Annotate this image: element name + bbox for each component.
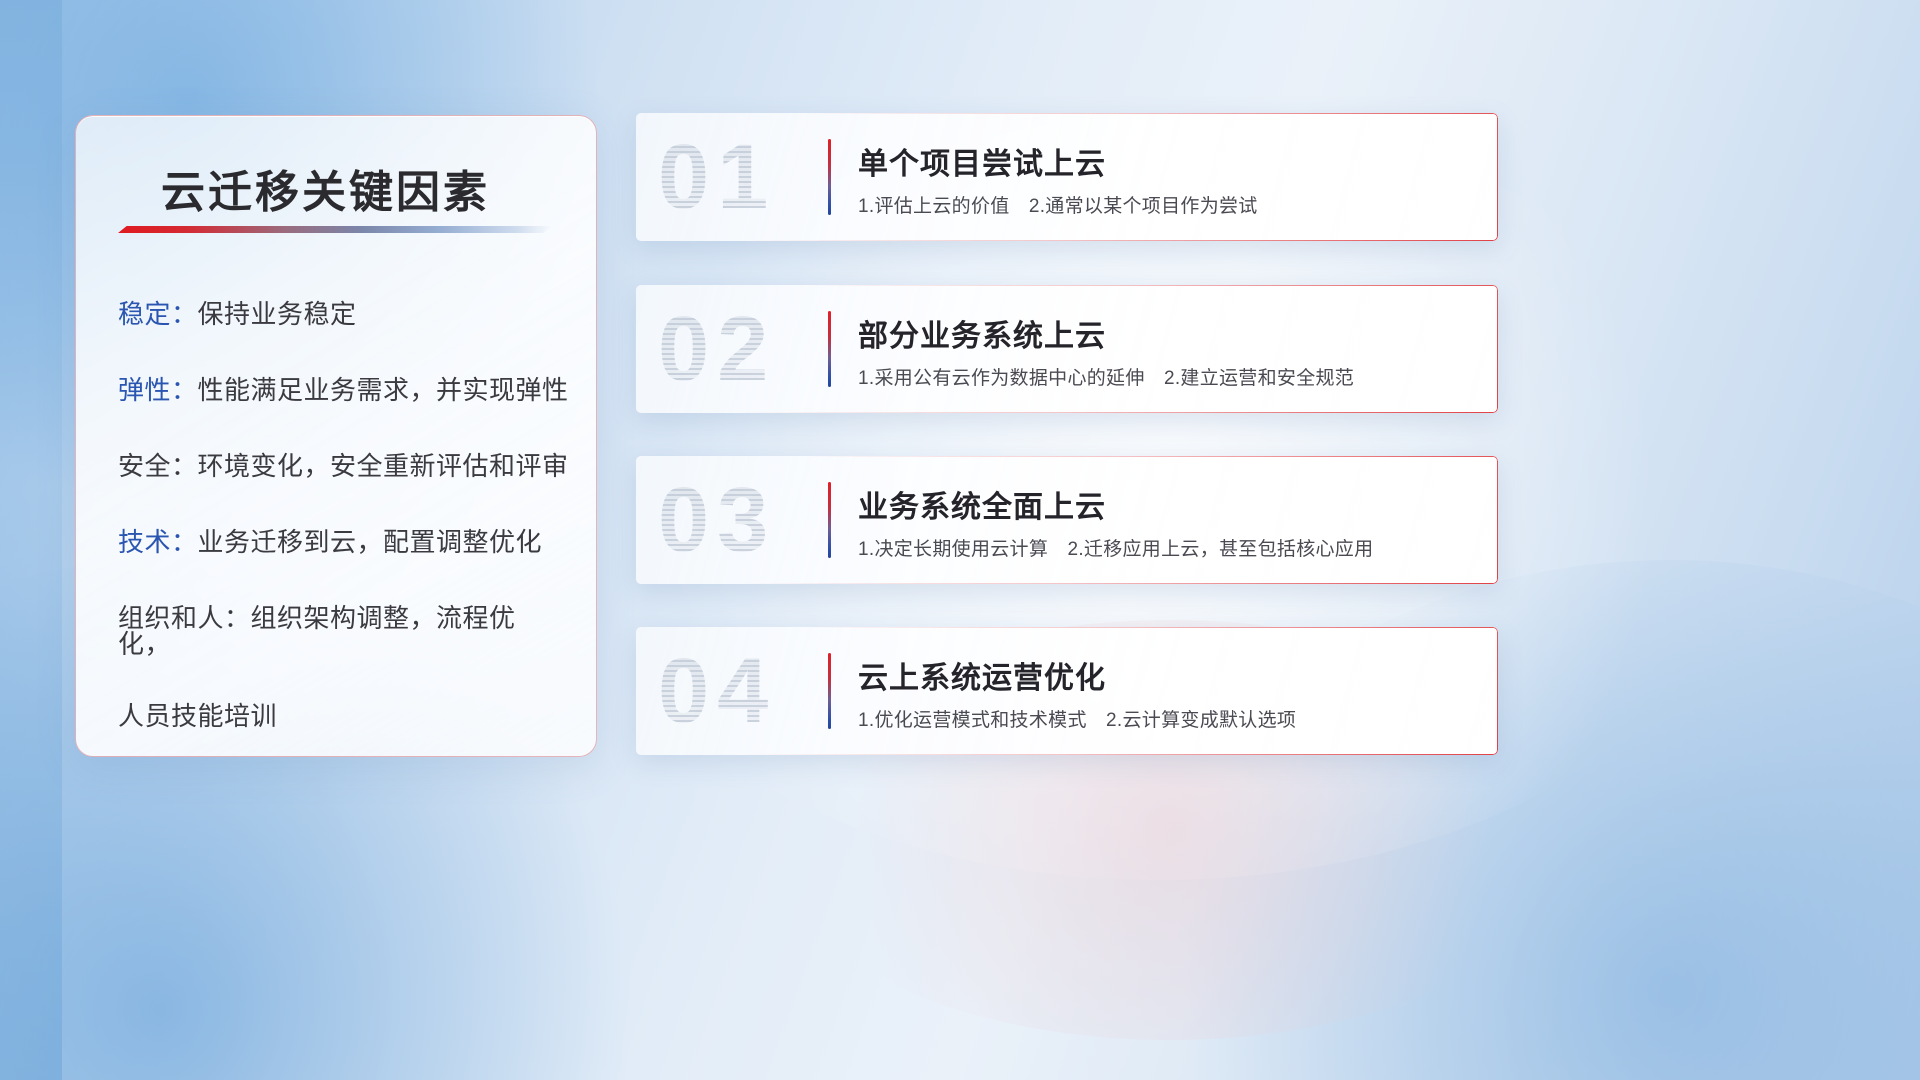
key-factors-card: 云迁移关键因素 稳定：保持业务稳定 弹性：性能满足业务需求，并实现弹性 安全：环… (75, 115, 597, 757)
fact-text: 性能满足业务需求，并实现弹性 (198, 375, 569, 405)
fact-key: 安全： (118, 451, 198, 481)
fact-text: 业务迁移到云，配置调整优化 (198, 527, 543, 557)
fact-text-line2: 人员技能培训 (118, 703, 566, 729)
title-underline-gradient (118, 226, 552, 233)
step-title: 云上系统运营优化 (858, 653, 1106, 697)
background-left-band (0, 0, 62, 1080)
step-title: 部分业务系统上云 (858, 311, 1106, 355)
step-subtitle: 1.优化运营模式和技术模式 2.云计算变成默认选项 (858, 705, 1296, 732)
fact-key: 稳定： (118, 299, 198, 329)
step-card-04[interactable]: 04 云上系统运营优化 1.优化运营模式和技术模式 2.云计算变成默认选项 (636, 627, 1498, 755)
step-number: 03 (658, 474, 776, 566)
fact-text: 保持业务稳定 (198, 299, 357, 329)
list-item: 稳定：保持业务稳定 (118, 301, 566, 327)
list-item: 安全：环境变化，安全重新评估和评审 (118, 453, 566, 479)
step-subtitle: 1.采用公有云作为数据中心的延伸 2.建立运营和安全规范 (858, 363, 1354, 390)
slide-canvas: 云迁移关键因素 稳定：保持业务稳定 弹性：性能满足业务需求，并实现弹性 安全：环… (0, 0, 1920, 1080)
step-divider (828, 653, 831, 729)
page-title: 云迁移关键因素 (161, 156, 490, 220)
step-number: 02 (658, 303, 776, 395)
step-subtitle: 1.决定长期使用云计算 2.迁移应用上云，甚至包括核心应用 (858, 534, 1373, 561)
step-divider (828, 311, 831, 387)
step-card-01[interactable]: 01 单个项目尝试上云 1.评估上云的价值 2.通常以某个项目作为尝试 (636, 113, 1498, 241)
step-card-02[interactable]: 02 部分业务系统上云 1.采用公有云作为数据中心的延伸 2.建立运营和安全规范 (636, 285, 1498, 413)
fact-key: 弹性： (118, 375, 198, 405)
step-title: 业务系统全面上云 (858, 482, 1106, 526)
list-item: 技术：业务迁移到云，配置调整优化 (118, 529, 566, 555)
step-number: 04 (658, 645, 776, 737)
fact-key: 技术： (118, 527, 198, 557)
step-title: 单个项目尝试上云 (858, 139, 1106, 183)
step-subtitle: 1.评估上云的价值 2.通常以某个项目作为尝试 (858, 191, 1258, 218)
list-item: 组织和人：组织架构调整，流程优化， 人员技能培训 (118, 605, 566, 729)
key-factors-list: 稳定：保持业务稳定 弹性：性能满足业务需求，并实现弹性 安全：环境变化，安全重新… (118, 301, 566, 779)
fact-text: 环境变化，安全重新评估和评审 (198, 451, 569, 481)
list-item: 弹性：性能满足业务需求，并实现弹性 (118, 377, 566, 403)
step-divider (828, 139, 831, 215)
step-divider (828, 482, 831, 558)
step-card-03[interactable]: 03 业务系统全面上云 1.决定长期使用云计算 2.迁移应用上云，甚至包括核心应… (636, 456, 1498, 584)
step-number: 01 (658, 131, 776, 223)
